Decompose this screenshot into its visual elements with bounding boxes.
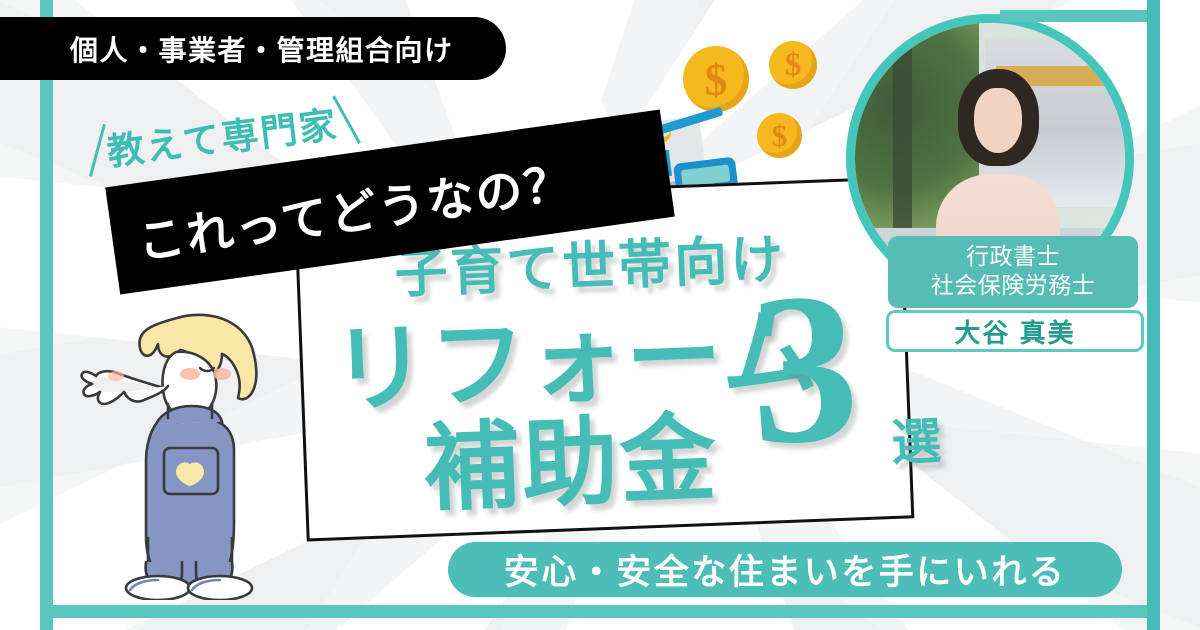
portrait-tree-trunk — [893, 23, 912, 255]
qualification-line-2: 社会保険労務士 — [896, 271, 1130, 300]
portrait-face — [974, 88, 1023, 153]
child-illustration — [72, 300, 287, 600]
advisor-name-badge: 大谷 真美 — [886, 310, 1144, 352]
target-audience-badge: 個人・事業者・管理組合向け — [0, 17, 506, 80]
target-audience-label: 個人・事業者・管理組合向け — [70, 29, 454, 69]
frame-border-bottom — [40, 605, 1160, 618]
promo-banner: $ $ $ — [0, 0, 1200, 630]
coin-symbol: $ — [785, 47, 802, 84]
coin-symbol: $ — [772, 118, 788, 154]
coin-symbol: $ — [705, 53, 728, 106]
qualification-line-1: 行政書士 — [896, 242, 1130, 271]
qualification-box: 行政書士 社会保険労務士 — [888, 236, 1138, 308]
advisor-name-label: 大谷 真美 — [954, 313, 1075, 350]
coin-medium-icon: $ — [769, 41, 817, 89]
bottom-cta-label: 安心・安全な住まいを手にいれる — [504, 544, 1067, 595]
coin-large-icon: $ — [683, 46, 749, 112]
bottom-cta-pill: 安心・安全な住まいを手にいれる — [448, 542, 1122, 597]
frame-border-top — [1000, 10, 1160, 22]
frame-border-left — [40, 0, 53, 630]
frame-border-right — [1147, 0, 1160, 630]
coin-small-icon: $ — [757, 113, 802, 158]
